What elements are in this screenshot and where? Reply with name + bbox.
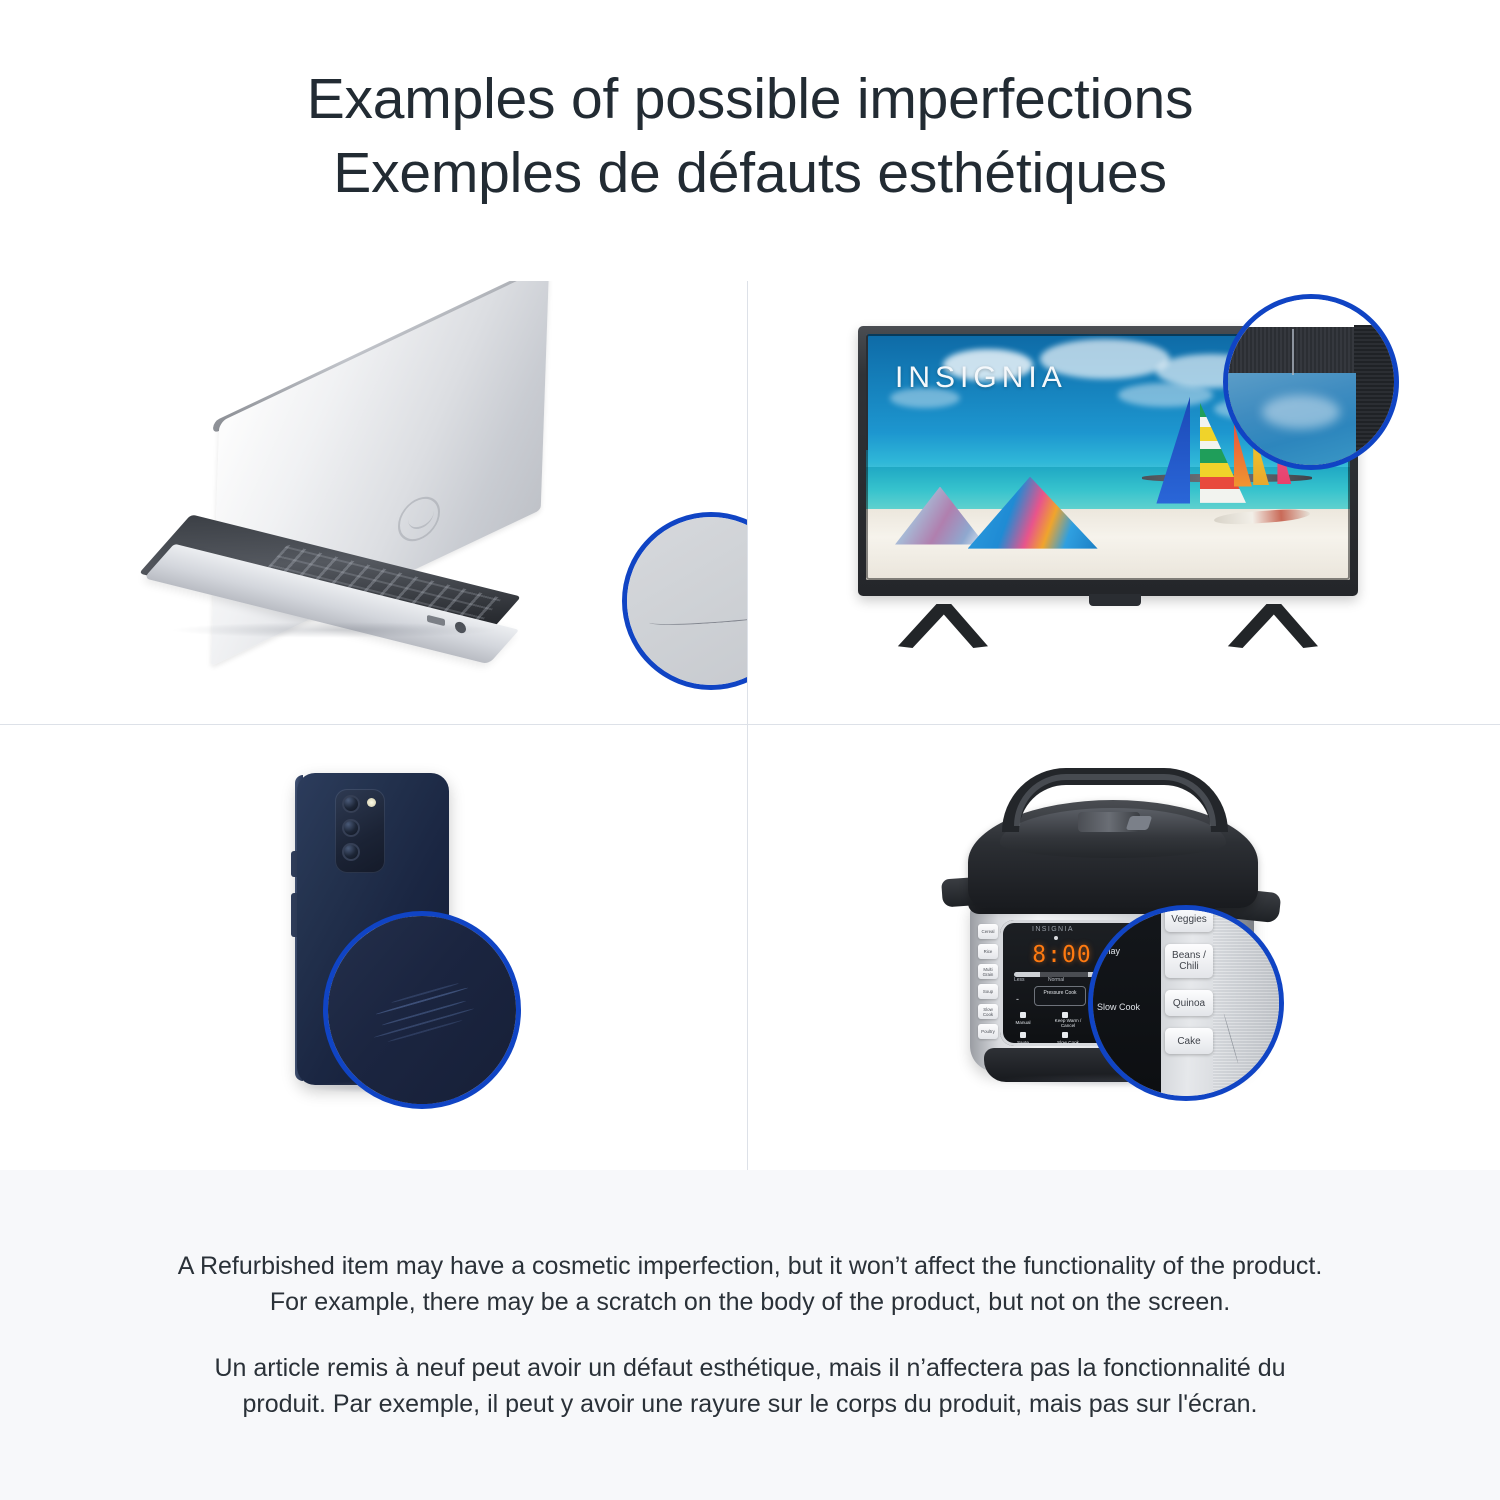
camera-lens-icon — [342, 795, 360, 813]
cooker-button-soup[interactable]: Soup — [978, 984, 998, 999]
examples-grid: INSIGNIA — [0, 281, 1500, 1170]
camera-module — [335, 789, 385, 873]
cooker-key-label-keep-warm: Keep Warm / Cancel — [1052, 1018, 1084, 1029]
laptop-shadow — [170, 622, 500, 638]
label: Soup — [978, 984, 998, 999]
slider-label-less: Less — [1014, 977, 1025, 983]
magnifier-cooker-scratch: Delay Slow Cook Veggies Beans / Chili Qu… — [1088, 905, 1284, 1101]
magnified-brushed-steel — [1213, 905, 1284, 1101]
description-english: A Refurbished item may have a cosmetic i… — [175, 1248, 1325, 1320]
cooker-key-label-slow-cook: Slow Cook — [1052, 1040, 1084, 1045]
slider-label-normal: Normal — [1048, 977, 1064, 983]
example-cell-phone — [0, 725, 748, 1170]
magnified-button-cake: Cake — [1165, 1028, 1213, 1054]
cooker-button-multigrain[interactable]: Multi Grain — [978, 964, 998, 979]
label: Poultry — [978, 1024, 998, 1039]
cooker-button-cereal[interactable]: Cereal — [978, 924, 998, 939]
camera-flash-icon — [367, 798, 376, 807]
cooker-handle-highlight — [1014, 774, 1216, 826]
label: Rice — [978, 944, 998, 959]
cooker-button-rice[interactable]: Rice — [978, 944, 998, 959]
cooker-button-slowcook[interactable]: Slow Cook — [978, 1004, 998, 1019]
description-french: Un article remis à neuf peut avoir un dé… — [175, 1350, 1325, 1422]
example-cell-pressure-cooker: INSIGNIA 8:00 Less Normal More Pressure … — [748, 725, 1500, 1170]
page-title-english: Examples of possible imperfections — [0, 62, 1500, 136]
phone-image — [275, 773, 475, 1103]
magnified-cloud — [1262, 395, 1340, 429]
label: Slow Cook — [978, 1004, 998, 1019]
magnified-label-slow-cook: Slow Cook — [1097, 1002, 1140, 1012]
magnified-button-veggies: Veggies — [1165, 906, 1213, 932]
magnified-button-beans-chili: Beans / Chili — [1165, 944, 1213, 978]
pressure-cook-label: Pressure Cook — [1035, 990, 1085, 996]
tv-ir-receiver-icon — [1089, 594, 1141, 606]
tv-foot-left — [896, 604, 988, 648]
example-cell-television: INSIGNIA — [748, 281, 1500, 725]
pressure-cooker-image: INSIGNIA 8:00 Less Normal More Pressure … — [928, 760, 1308, 1100]
magnified-bezel-side — [1354, 325, 1396, 470]
camera-lens-icon — [342, 843, 360, 861]
television-image: INSIGNIA — [858, 306, 1398, 666]
cooker-key-icon[interactable] — [1020, 1032, 1026, 1038]
bezel-seam-mark — [1292, 329, 1294, 375]
cooker-minus-button[interactable]: - — [1016, 994, 1019, 1004]
cooker-key-label-manual: Manual — [1008, 1020, 1038, 1025]
label: Cereal — [978, 924, 998, 939]
cooker-key-label-saute: Saute — [1008, 1040, 1038, 1045]
page-title-french: Exemples de défauts esthétiques — [0, 136, 1500, 210]
cooker-indicator-led — [1054, 936, 1058, 940]
tv-foot-right — [1226, 604, 1318, 648]
laptop-image — [155, 346, 585, 646]
footer-description: A Refurbished item may have a cosmetic i… — [0, 1170, 1500, 1500]
magnifier-phone-surface — [323, 911, 521, 1109]
cooker-pressure-cook-button[interactable]: Pressure Cook — [1034, 986, 1086, 1006]
cooker-display-value: 8:00 — [1026, 942, 1098, 968]
magnifier-tv-bezel — [1223, 294, 1399, 470]
magnified-button-quinoa: Quinoa — [1165, 990, 1213, 1016]
camera-lens-icon — [342, 819, 360, 837]
cooker-key-icon[interactable] — [1062, 1032, 1068, 1038]
magnifier-laptop-scratch — [622, 512, 748, 690]
example-cell-laptop — [0, 281, 748, 725]
label: Multi Grain — [978, 964, 998, 979]
refurbished-imperfections-infographic: Examples of possible imperfections Exemp… — [0, 0, 1500, 1500]
cooker-brand-label: INSIGNIA — [1032, 926, 1074, 933]
cooker-key-icon[interactable] — [1020, 1012, 1026, 1018]
magnified-label-delay: Delay — [1097, 946, 1120, 956]
magnifier-laptop-surface — [622, 512, 748, 690]
magnifier-phone-scratches — [323, 911, 521, 1109]
header: Examples of possible imperfections Exemp… — [0, 0, 1500, 210]
cooker-button-poultry[interactable]: Poultry — [978, 1024, 998, 1039]
